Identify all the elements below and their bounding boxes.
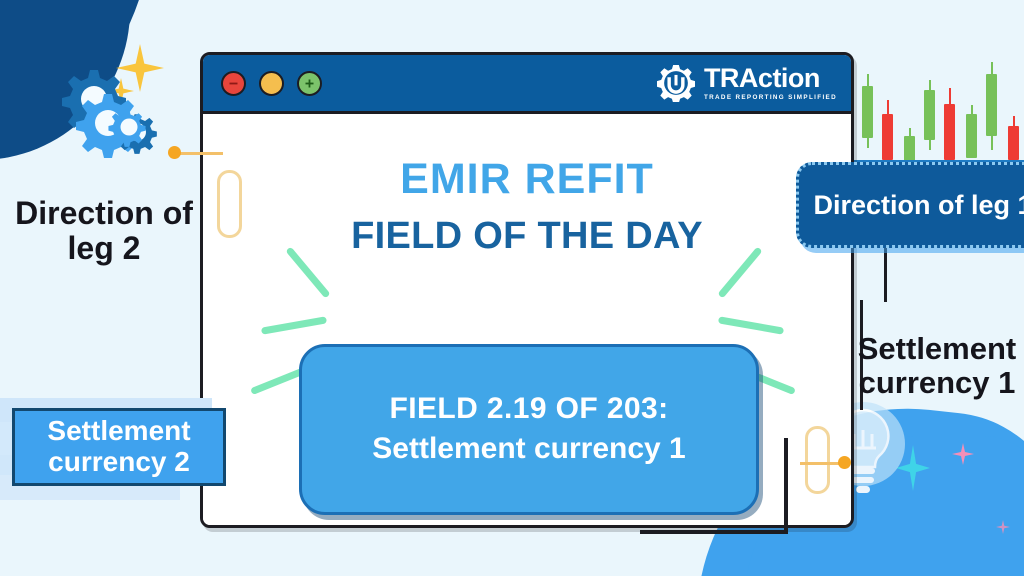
maximize-button[interactable] [297, 71, 322, 96]
annotation-settlement-currency-1: Settlement currency 1 [844, 332, 1024, 400]
candlestick-chart [840, 62, 1024, 162]
page-subtitle: FIELD OF THE DAY [203, 217, 851, 255]
window-content: EMIR REFIT FIELD OF THE DAY FIELD 2.19 O… [203, 114, 851, 525]
gear-logo-icon [657, 64, 695, 102]
bracket-right-vert [784, 438, 788, 534]
minimize-button[interactable] [259, 71, 284, 96]
annotation-settlement-currency-2: Settlement currency 2 [12, 408, 226, 486]
annotation-direction-leg-2: Direction of leg 2 [6, 196, 202, 266]
traction-logo: TRAction TRADE REPORTING SIMPLIFIED [657, 64, 837, 102]
poster-canvas: TRAction TRADE REPORTING SIMPLIFIED EMIR… [0, 0, 1024, 576]
gears-icon [44, 60, 184, 170]
brand-name: TRAction [704, 65, 837, 92]
field-card-line1: FIELD 2.19 OF 203: [390, 393, 669, 425]
brand-text: TRAction TRADE REPORTING SIMPLIFIED [704, 65, 837, 101]
headline-block: EMIR REFIT FIELD OF THE DAY [203, 158, 851, 255]
field-card-line2: Settlement currency 1 [372, 432, 685, 466]
field-card: FIELD 2.19 OF 203: Settlement currency 1 [299, 344, 759, 515]
bracket-right-horiz [640, 530, 788, 534]
brand-tagline: TRADE REPORTING SIMPLIFIED [704, 95, 837, 101]
connector-line-left [175, 152, 223, 155]
star-pink-small-icon [996, 520, 1010, 534]
window-titlebar: TRAction TRADE REPORTING SIMPLIFIED [203, 55, 851, 114]
connector-dot-right [838, 456, 851, 469]
bracket-right-upper [884, 240, 887, 302]
right-pill-ornament [805, 426, 830, 494]
connector-dot-left [168, 146, 181, 159]
window-controls [221, 71, 322, 96]
star-pink-icon [952, 443, 974, 465]
browser-window: TRAction TRADE REPORTING SIMPLIFIED EMIR… [200, 52, 854, 528]
annotation-direction-leg-1: Direction of leg 1 [796, 162, 1024, 248]
page-title: EMIR REFIT [203, 158, 851, 201]
close-button[interactable] [221, 71, 246, 96]
